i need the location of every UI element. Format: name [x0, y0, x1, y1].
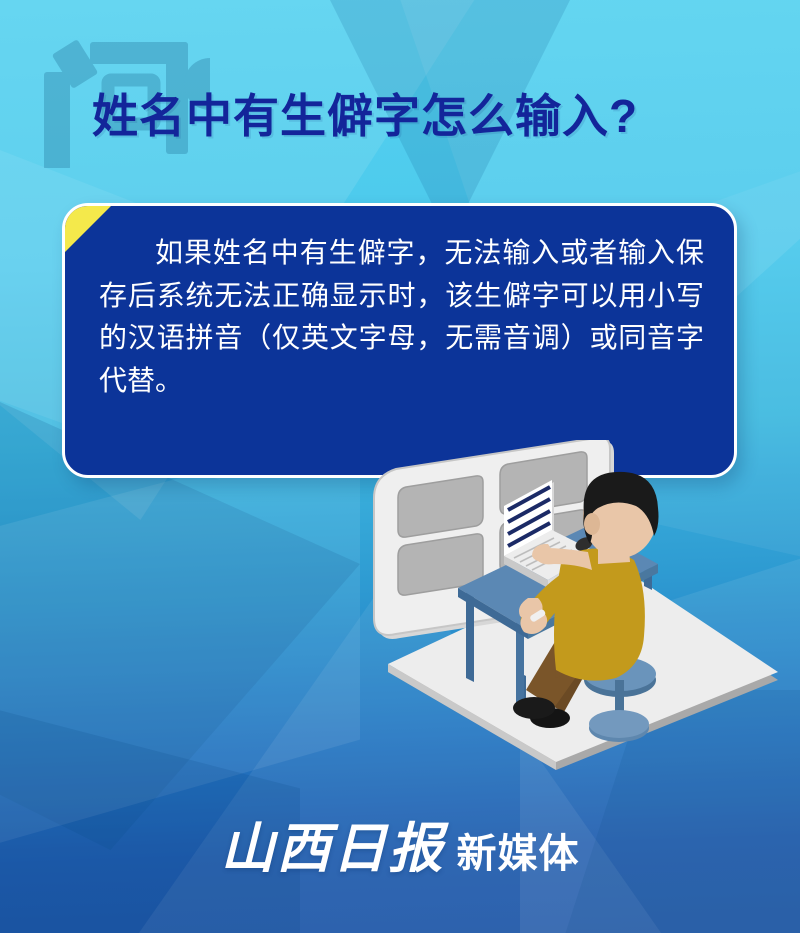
- poster-root: 姓名中有生僻字怎么输入? 如果姓名中有生僻字，无法输入或者输入保存后系统无法正确…: [0, 0, 800, 933]
- answer-body-text: 如果姓名中有生僻字，无法输入或者输入保存后系统无法正确显示时，该生僻字可以用小写…: [99, 232, 704, 402]
- brand-masthead: 山西日报: [221, 822, 445, 876]
- page-title: 姓名中有生僻字怎么输入?: [92, 93, 638, 139]
- brand-lockup: 山西日报 新媒体: [0, 822, 800, 902]
- brand-suffix: 新媒体: [457, 834, 580, 874]
- answer-card: 如果姓名中有生僻字，无法输入或者输入保存后系统无法正确显示时，该生僻字可以用小写…: [62, 203, 737, 478]
- illustration-person-at-desk: [348, 440, 800, 770]
